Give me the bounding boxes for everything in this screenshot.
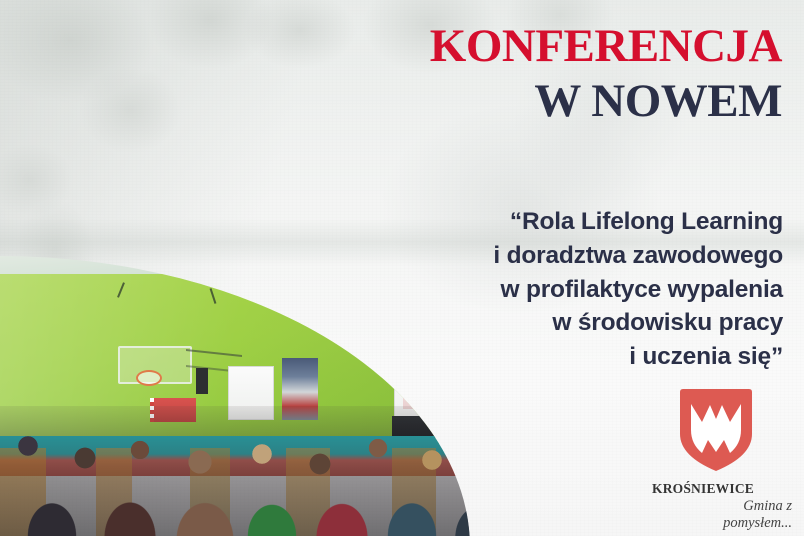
loudspeaker-icon [196, 368, 208, 394]
page-title: KONFERENCJA W NOWEM [430, 22, 782, 126]
krosniewice-logo: KROŚNIEWICE Gmina z pomysłem... [646, 386, 792, 520]
quote-line: w profilaktyce wypalenia [363, 273, 783, 307]
logo-municipality-name: KROŚNIEWICE [652, 481, 754, 497]
quote-line: w środowisku pracy [363, 306, 783, 340]
conference-subject-quote: “Rola Lifelong Learning i doradztwa zawo… [363, 205, 783, 374]
logo-tagline: Gmina z pomysłem... [676, 498, 792, 532]
conference-poster: KONFERENCJA W NOWEM “Rola Lifelong Learn… [0, 0, 804, 536]
quote-line: i doradztwa zawodowego [363, 239, 783, 273]
coat-of-arms-icon [678, 388, 754, 472]
headline-line-2: W NOWEM [430, 77, 782, 126]
quote-line: “Rola Lifelong Learning [363, 205, 783, 239]
quote-line: i uczenia się” [363, 340, 783, 374]
headline-line-1: KONFERENCJA [430, 22, 782, 71]
basketball-hoop-icon [118, 346, 192, 384]
